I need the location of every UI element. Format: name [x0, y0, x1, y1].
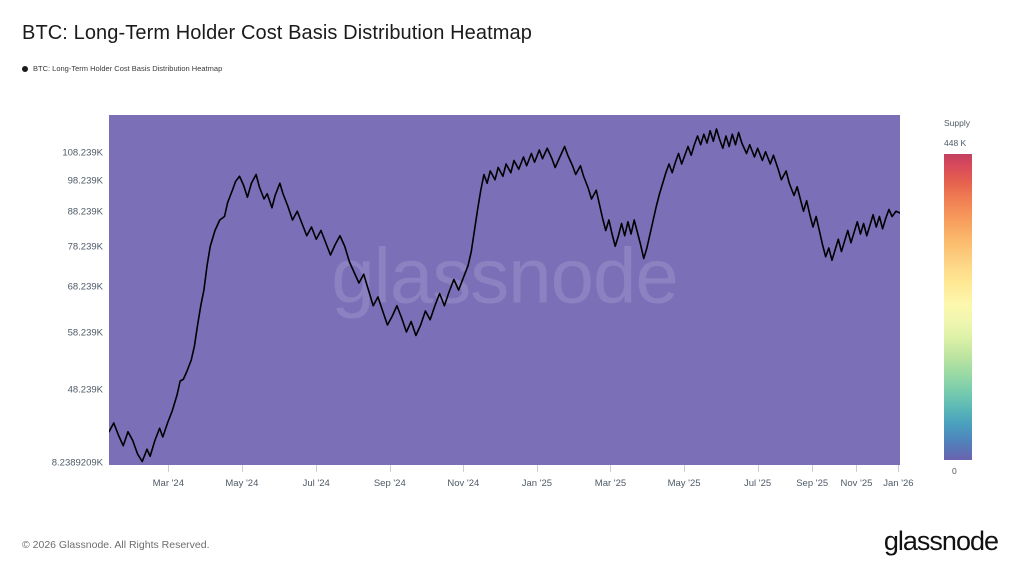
colorbar-min-label: 0 [952, 466, 957, 476]
x-axis-tick-label: May '24 [225, 478, 258, 489]
legend-item-label: BTC: Long-Term Holder Cost Basis Distrib… [33, 64, 222, 73]
y-axis-tick-label: 88.239K [68, 206, 103, 217]
x-axis-tick-label: Jan '25 [522, 478, 552, 489]
x-axis-tick-mark [856, 465, 857, 472]
y-axis: 108.239K98.239K88.239K78.239K68.239K58.2… [0, 115, 103, 465]
x-axis-tick-label: Sep '24 [374, 478, 406, 489]
y-axis-tick-label: 78.239K [68, 241, 103, 252]
colorbar-title: Supply [944, 118, 970, 128]
y-axis-tick-label: 108.239K [62, 147, 103, 158]
y-axis-tick-label: 68.239K [68, 282, 103, 293]
colorbar: Supply 448 K 0 [938, 118, 1018, 488]
x-axis-tick-label: May '25 [668, 478, 701, 489]
y-axis-tick-label: 8.2389209K [52, 457, 103, 468]
legend-marker-icon [22, 66, 28, 72]
x-axis-tick-mark [758, 465, 759, 472]
x-axis-tick-label: Jul '24 [303, 478, 330, 489]
x-axis-tick-label: Mar '24 [153, 478, 184, 489]
heatmap-plot-area[interactable]: glassnode [109, 115, 900, 465]
x-axis-tick-label: Nov '24 [447, 478, 479, 489]
colorbar-gradient [944, 154, 972, 460]
x-axis-tick-mark [812, 465, 813, 472]
x-axis-tick-label: Jul '25 [744, 478, 771, 489]
price-line-path [109, 129, 900, 462]
y-axis-tick-label: 48.239K [68, 385, 103, 396]
x-axis-tick-mark [610, 465, 611, 472]
x-axis-tick-label: Nov '25 [841, 478, 873, 489]
y-axis-tick-label: 58.239K [68, 328, 103, 339]
plot-wrapper: glassnode [109, 115, 900, 465]
x-axis-tick-mark [463, 465, 464, 472]
x-axis-tick-mark [898, 465, 899, 472]
x-axis: Mar '24May '24Jul '24Sep '24Nov '24Jan '… [109, 465, 900, 495]
x-axis-tick-mark [537, 465, 538, 472]
footer-copyright: © 2026 Glassnode. All Rights Reserved. [22, 539, 210, 551]
x-axis-tick-mark [390, 465, 391, 472]
price-line-overlay [109, 115, 900, 465]
x-axis-tick-mark [168, 465, 169, 472]
colorbar-max-label: 448 K [944, 138, 966, 148]
chart-legend: BTC: Long-Term Holder Cost Basis Distrib… [22, 64, 222, 73]
x-axis-tick-label: Sep '25 [796, 478, 828, 489]
x-axis-tick-mark [242, 465, 243, 472]
x-axis-tick-label: Jan '26 [883, 478, 913, 489]
footer-logo: glassnode [884, 526, 998, 557]
x-axis-tick-mark [316, 465, 317, 472]
page-title: BTC: Long-Term Holder Cost Basis Distrib… [22, 22, 532, 45]
chart-root: BTC: Long-Term Holder Cost Basis Distrib… [0, 0, 1024, 576]
y-axis-tick-label: 98.239K [68, 175, 103, 186]
x-axis-tick-label: Mar '25 [595, 478, 626, 489]
x-axis-tick-mark [684, 465, 685, 472]
